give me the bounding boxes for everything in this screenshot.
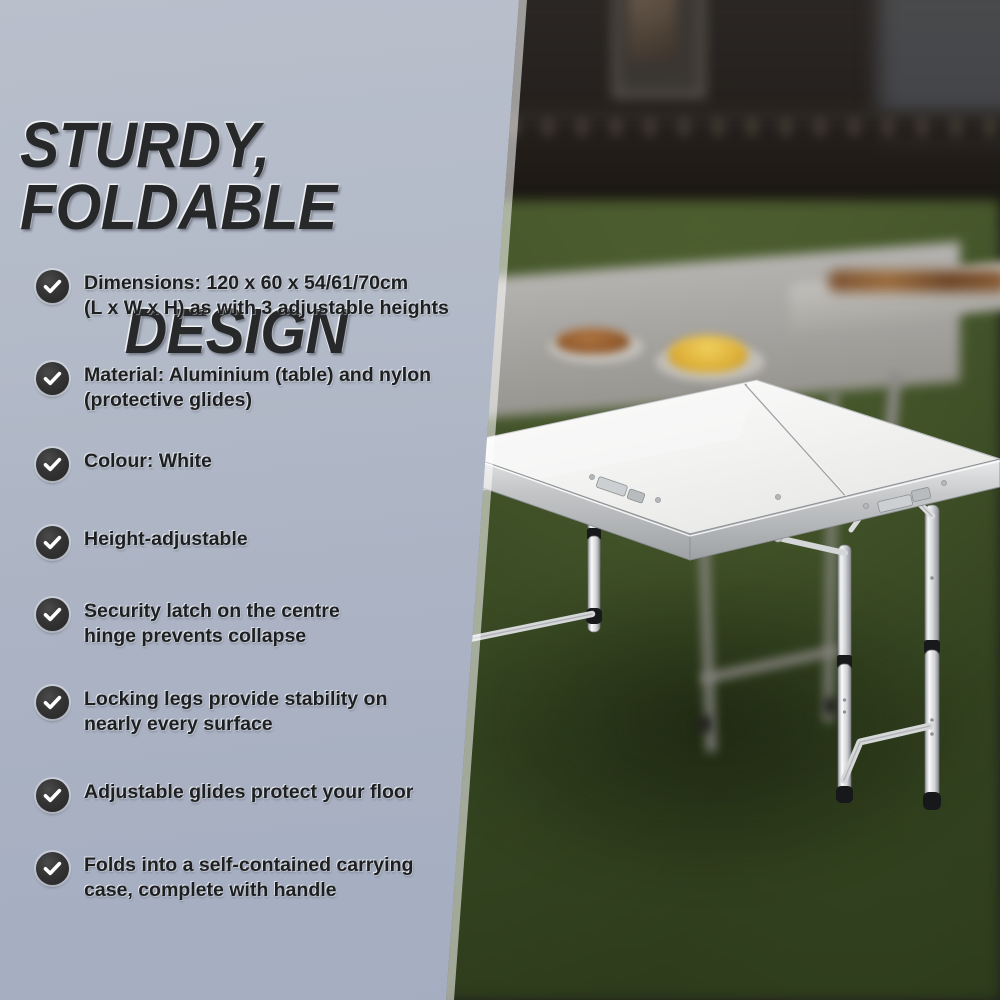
feature-item-material: Material: Aluminium (table) and nylon (p… [36, 362, 496, 412]
page-title-line-1: STURDY, FOLDABLE [20, 114, 452, 238]
feature-item-height-adjustable: Height-adjustable [36, 526, 496, 559]
check-circle-icon [36, 526, 69, 559]
feature-item-locking-legs: Locking legs provide stability on nearly… [36, 686, 496, 736]
background-table-foot [698, 716, 711, 732]
feature-item-glides: Adjustable glides protect your floor [36, 779, 496, 812]
feature-text: Dimensions: 120 x 60 x 54/61/70cm (L x W… [84, 270, 449, 320]
feature-text: Locking legs provide stability on nearly… [84, 686, 387, 736]
check-circle-icon [36, 779, 69, 812]
feature-text: Height-adjustable [84, 526, 248, 552]
feature-item-carry-case: Folds into a self-contained carrying cas… [36, 852, 496, 902]
feature-text: Colour: White [84, 448, 212, 474]
feature-text: Material: Aluminium (table) and nylon (p… [84, 362, 431, 412]
feature-text: Folds into a self-contained carrying cas… [84, 852, 413, 902]
feature-text: Security latch on the centre hinge preve… [84, 598, 340, 648]
check-circle-icon [36, 362, 69, 395]
feature-item-security-latch: Security latch on the centre hinge preve… [36, 598, 496, 648]
feature-text: Adjustable glides protect your floor [84, 779, 413, 805]
food-on-plate [668, 335, 748, 373]
check-circle-icon [36, 852, 69, 885]
second-table-food [828, 270, 1000, 292]
feature-item-dimensions: Dimensions: 120 x 60 x 54/61/70cm (L x W… [36, 270, 496, 320]
check-circle-icon [36, 598, 69, 631]
check-circle-icon [36, 448, 69, 481]
product-infographic: STURDY, FOLDABLE DESIGN Dimensions: 120 … [0, 0, 1000, 1000]
feature-item-colour: Colour: White [36, 448, 496, 481]
food-on-plate [556, 328, 630, 354]
background-table-foot [824, 698, 837, 714]
panel-content: STURDY, FOLDABLE DESIGN Dimensions: 120 … [0, 0, 560, 1000]
check-circle-icon [36, 270, 69, 303]
check-circle-icon [36, 686, 69, 719]
house-window-pane [628, 0, 676, 60]
